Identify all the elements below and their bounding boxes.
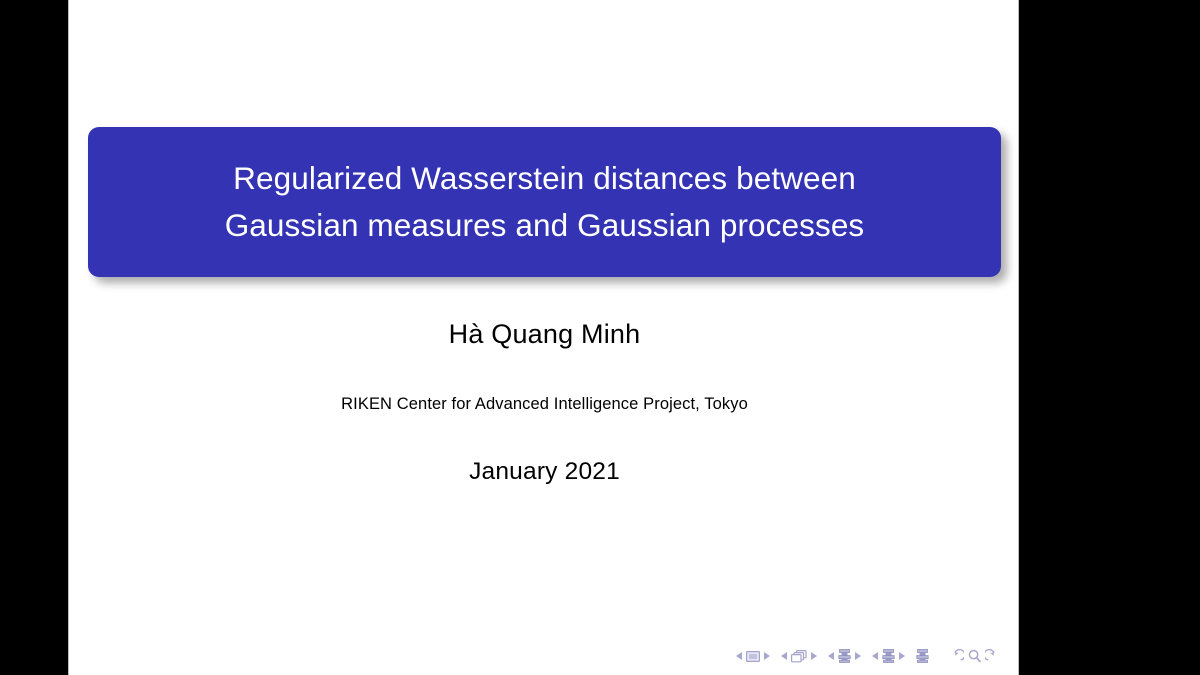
nav-group-slide[interactable] bbox=[736, 645, 770, 667]
title-box: Regularized Wasserstein distances betwee… bbox=[88, 127, 1001, 277]
letterbox-right bbox=[1019, 0, 1200, 675]
nav-group-subsection[interactable] bbox=[828, 645, 861, 667]
frames-stack-icon[interactable] bbox=[791, 650, 807, 663]
undo-arrow-icon[interactable] bbox=[949, 649, 964, 663]
triangle-right-icon[interactable] bbox=[764, 652, 770, 660]
document-icon[interactable] bbox=[916, 649, 929, 663]
letterbox-left bbox=[0, 0, 68, 675]
title-block: Regularized Wasserstein distances betwee… bbox=[88, 127, 1001, 277]
nav-group-section[interactable] bbox=[872, 645, 905, 667]
triangle-left-icon[interactable] bbox=[828, 652, 834, 660]
slide-canvas: Regularized Wasserstein distances betwee… bbox=[68, 0, 1019, 675]
presentation-date: January 2021 bbox=[69, 457, 1020, 486]
triangle-right-icon[interactable] bbox=[855, 652, 861, 660]
nav-group-history[interactable] bbox=[949, 645, 1000, 667]
presentation-viewer: Regularized Wasserstein distances betwee… bbox=[0, 0, 1200, 675]
section-icon[interactable] bbox=[882, 649, 895, 663]
triangle-right-icon[interactable] bbox=[899, 652, 905, 660]
triangle-left-icon[interactable] bbox=[781, 652, 787, 660]
subsection-icon[interactable] bbox=[838, 649, 851, 663]
author-affiliation: RIKEN Center for Advanced Intelligence P… bbox=[69, 395, 1020, 415]
author-name: Hà Quang Minh bbox=[69, 318, 1020, 350]
redo-arrow-icon[interactable] bbox=[985, 649, 1000, 663]
beamer-navigation-bar[interactable] bbox=[736, 645, 1000, 667]
triangle-left-icon[interactable] bbox=[872, 652, 878, 660]
nav-group-frame[interactable] bbox=[781, 645, 817, 667]
slide-title: Regularized Wasserstein distances betwee… bbox=[207, 155, 883, 249]
triangle-left-icon[interactable] bbox=[736, 652, 742, 660]
nav-group-presentation[interactable] bbox=[916, 645, 929, 667]
title-meta: Hà Quang Minh RIKEN Center for Advanced … bbox=[69, 318, 1020, 487]
slide-icon[interactable] bbox=[746, 651, 760, 662]
triangle-right-icon[interactable] bbox=[811, 652, 817, 660]
magnifier-icon[interactable] bbox=[967, 649, 982, 663]
